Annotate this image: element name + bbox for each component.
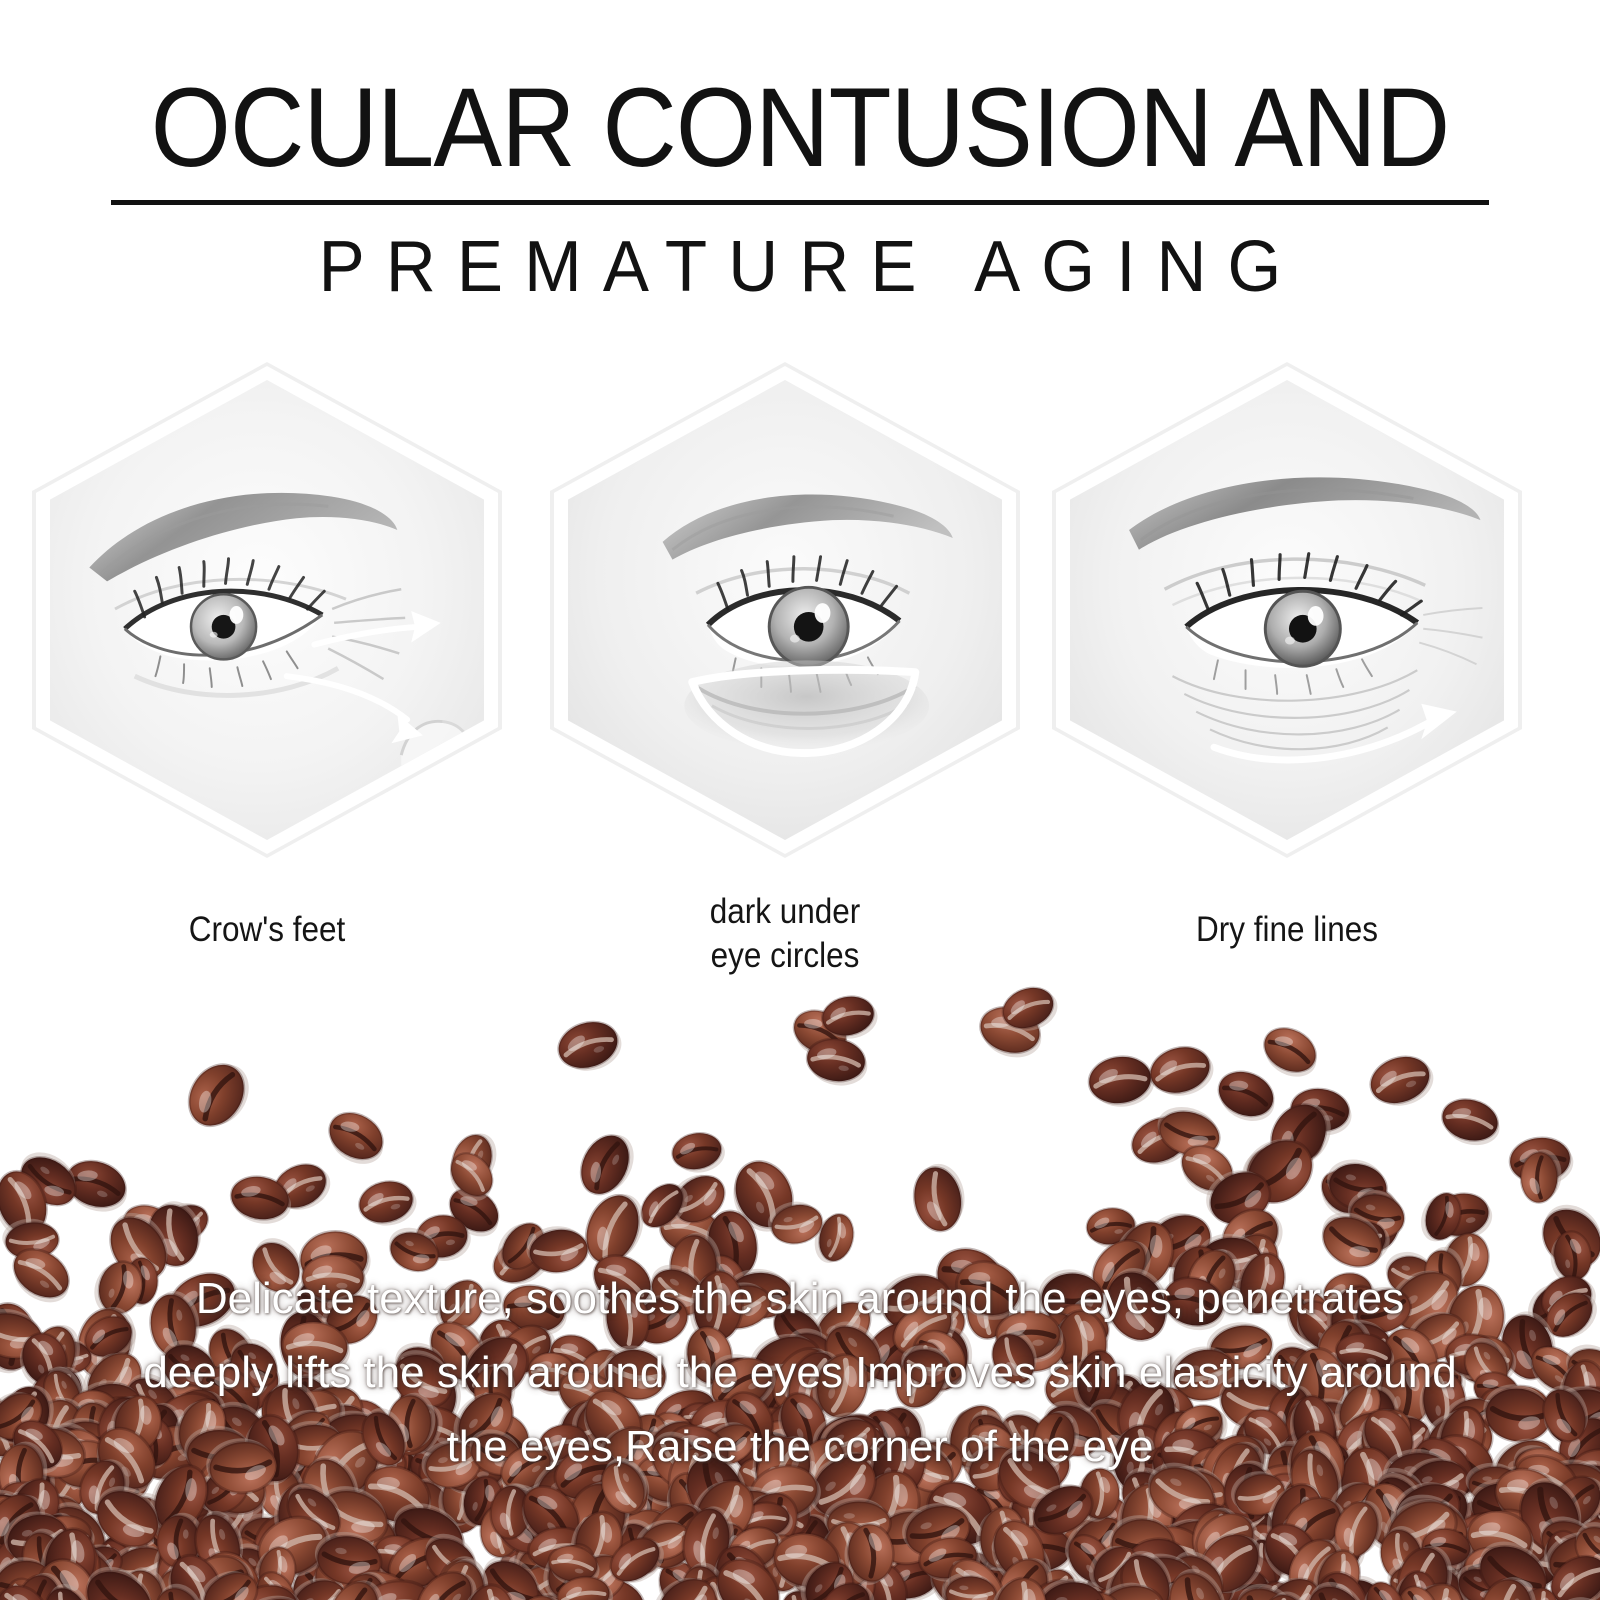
concern-card-dry-fine-lines [1042, 362, 1532, 862]
caption-line: dark under [565, 890, 1006, 934]
hexagon-frame [550, 362, 1020, 858]
caption-line: Dry fine lines [1196, 910, 1378, 949]
page-title: OCULAR CONTUSION AND PREMATURE AGING [0, 72, 1600, 303]
concern-card-crows-feet [22, 362, 512, 862]
coffee-bean-decoration [0, 960, 1600, 1600]
eye-photo-dark-under-eye-circles [568, 380, 1002, 840]
eye-photo-dry-fine-lines [1070, 380, 1504, 840]
title-divider [111, 200, 1489, 205]
hexagon-inner-gap [36, 366, 498, 854]
caption-line: Crow's feet [189, 910, 346, 949]
concern-card-dark-under-eye-circles [540, 362, 1030, 862]
hexagon-frame [1052, 362, 1522, 858]
hexagon-frame [32, 362, 502, 858]
title-primary: OCULAR CONTUSION AND [64, 72, 1536, 184]
title-secondary: PREMATURE AGING [32, 231, 1568, 303]
concern-hexagon-row [0, 362, 1600, 882]
hexagon-inner-gap [1056, 366, 1518, 854]
caption-crows-feet: Crow's feet [47, 908, 488, 952]
infographic-page: OCULAR CONTUSION AND PREMATURE AGING [0, 0, 1600, 1600]
caption-dry-fine-lines: Dry fine lines [1067, 908, 1508, 952]
eye-photo-crows-feet [50, 380, 484, 840]
hexagon-inner-gap [554, 366, 1016, 854]
